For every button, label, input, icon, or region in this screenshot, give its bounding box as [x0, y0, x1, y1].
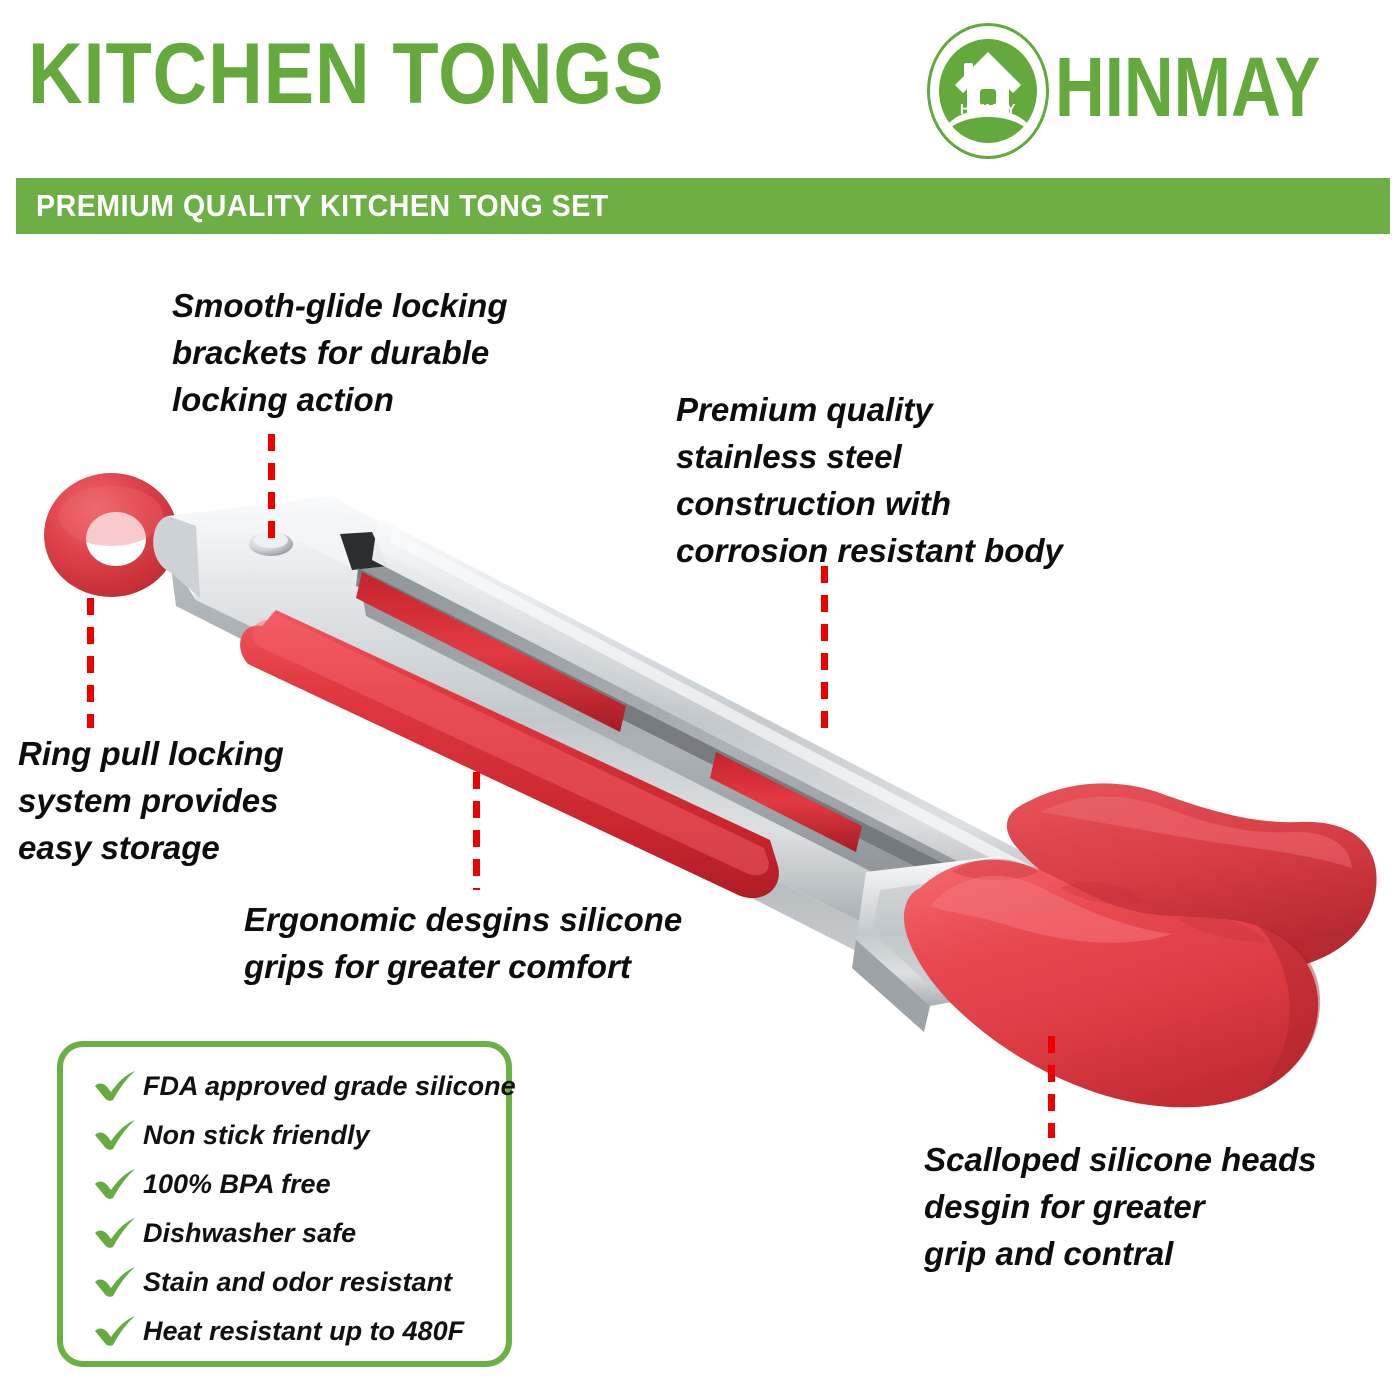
- check-mark-icon: [91, 1216, 139, 1250]
- list-item: FDA approved grade silicone: [91, 1061, 511, 1110]
- callout-ring-pull: Ring pull locking system provides easy s…: [18, 730, 284, 871]
- callout-stainless-steel: Premium quality stainless steel construc…: [676, 386, 1063, 574]
- logo-inner-label: HINMAY: [943, 101, 1033, 118]
- check-mark-icon: [91, 1314, 139, 1348]
- list-item: Dishwasher safe: [91, 1208, 511, 1257]
- check-mark-icon: [91, 1069, 139, 1103]
- callout-scalloped-heads: Scalloped silicone heads desgin for grea…: [924, 1136, 1316, 1277]
- feature-label: Dishwasher safe: [143, 1217, 356, 1249]
- leader-line-stainless-steel: [821, 566, 828, 732]
- check-mark-icon: [91, 1167, 139, 1201]
- leader-line-ring-pull: [87, 598, 94, 728]
- check-mark-icon: [91, 1265, 139, 1299]
- list-item: Non stick friendly: [91, 1110, 511, 1159]
- feature-label: Stain and odor resistant: [143, 1266, 452, 1298]
- house-in-circle-icon: HINMAY: [925, 23, 1059, 161]
- product-infographic: KITCHEN TONGS HINMAY HINMAY PREMIUM Q: [0, 0, 1400, 1400]
- subtitle-text: PREMIUM QUALITY KITCHEN TONG SET: [36, 187, 609, 225]
- callout-ergonomic-grips: Ergonomic desgins silicone grips for gre…: [244, 896, 682, 990]
- leader-line-scalloped-heads: [1048, 1036, 1055, 1138]
- check-mark-icon: [91, 1118, 139, 1152]
- callout-locking-brackets: Smooth-glide locking brackets for durabl…: [172, 282, 508, 423]
- brand-wordmark: HINMAY: [1055, 45, 1320, 139]
- feature-label: Heat resistant up to 480F: [143, 1315, 464, 1347]
- feature-label: FDA approved grade silicone: [143, 1070, 516, 1102]
- feature-list: FDA approved grade silicone Non stick fr…: [91, 1061, 511, 1355]
- list-item: Stain and odor resistant: [91, 1257, 511, 1306]
- subtitle-bar: PREMIUM QUALITY KITCHEN TONG SET: [16, 178, 1390, 234]
- leader-line-locking-brackets: [268, 434, 275, 548]
- feature-label: 100% BPA free: [143, 1168, 331, 1200]
- feature-label: Non stick friendly: [143, 1119, 370, 1151]
- house-icon: [939, 39, 1037, 143]
- leader-line-ergonomic-grips: [473, 772, 480, 890]
- list-item: 100% BPA free: [91, 1159, 511, 1208]
- brand-logo: HINMAY HINMAY: [925, 22, 1379, 162]
- list-item: Heat resistant up to 480F: [91, 1306, 511, 1355]
- feature-checklist-box: FDA approved grade silicone Non stick fr…: [57, 1041, 512, 1367]
- page-title: KITCHEN TONGS: [28, 26, 665, 122]
